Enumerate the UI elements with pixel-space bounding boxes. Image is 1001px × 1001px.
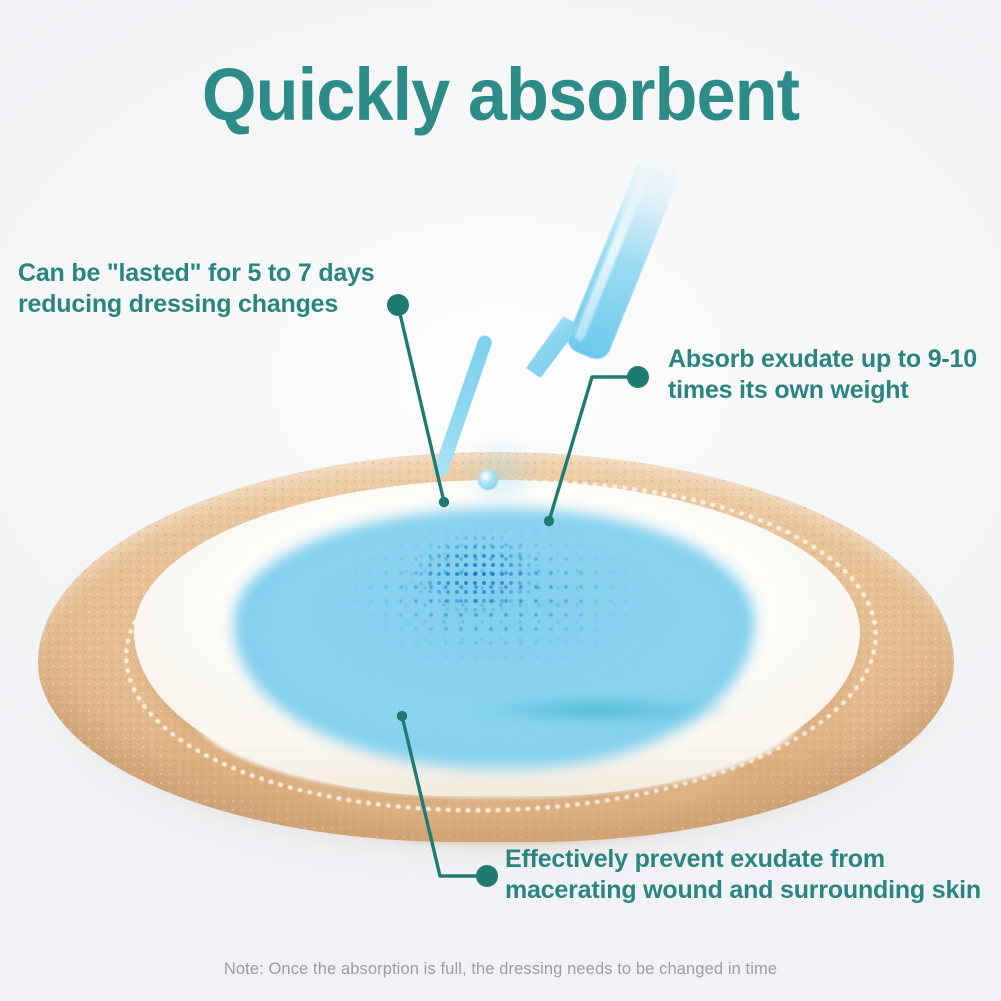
- annotation-lasted-days: Can be "lasted" for 5 to 7 days reducing…: [18, 258, 375, 320]
- annotation-prevent-maceration: Effectively prevent exudate from macerat…: [505, 844, 981, 906]
- infographic-canvas: Quickly absorbent: [0, 0, 1001, 1001]
- leader-absorb-capacity: [544, 366, 649, 526]
- annotation-absorb-capacity: Absorb exudate up to 9-10 times its own …: [668, 344, 977, 406]
- leader-lasted-days: [387, 294, 449, 507]
- leader-prevent-maceration: [397, 711, 498, 887]
- footer-note: Note: Once the absorption is full, the d…: [0, 960, 1001, 979]
